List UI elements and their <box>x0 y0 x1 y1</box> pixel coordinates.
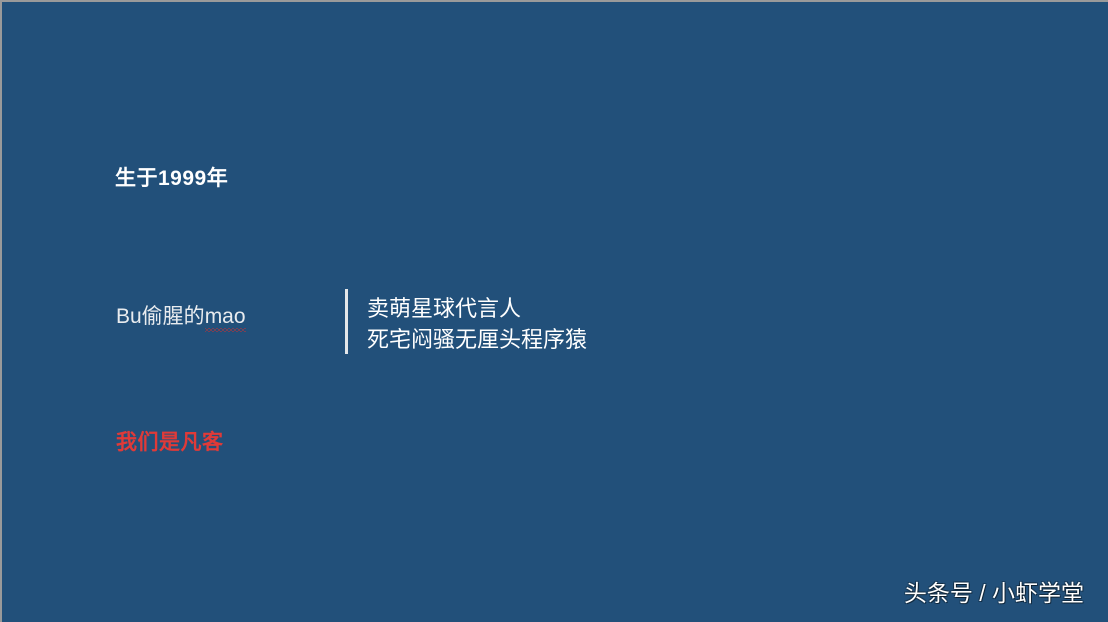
tagline-block: 卖萌星球代言人 死宅闷骚无厘头程序猿 <box>367 293 587 355</box>
vertical-divider-rule <box>345 289 348 354</box>
nickname-prefix: Bu偷腥的 <box>116 305 205 328</box>
accent-statement: 我们是凡客 <box>116 426 224 456</box>
slide-headline: 生于1999年 <box>115 162 228 192</box>
tagline-line-2: 死宅闷骚无厘头程序猿 <box>367 324 587 355</box>
nickname-misspelled-word: mao <box>205 305 246 329</box>
watermark-attribution: 头条号 / 小虾学堂 <box>904 574 1084 608</box>
presentation-slide: 生于1999年 Bu偷腥的mao 卖萌星球代言人 死宅闷骚无厘头程序猿 我们是凡… <box>0 0 1108 622</box>
tagline-line-1: 卖萌星球代言人 <box>367 293 587 324</box>
nickname-text: Bu偷腥的mao <box>116 300 246 330</box>
